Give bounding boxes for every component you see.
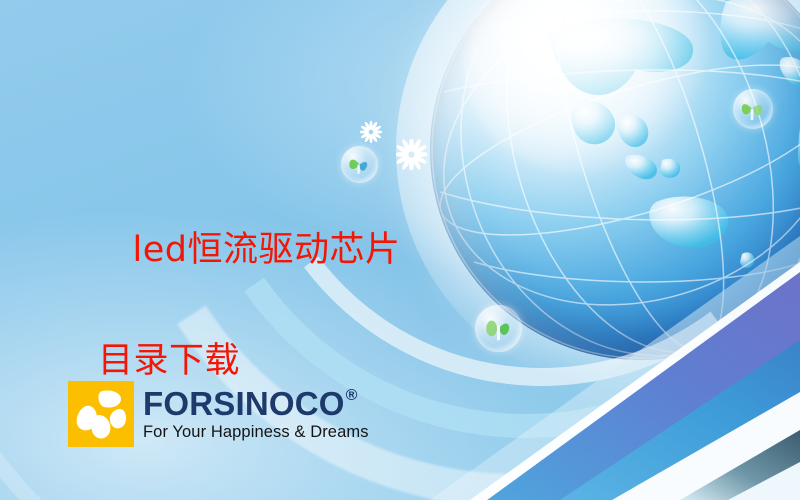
headline-line-1: led恒流驱动芯片 <box>133 230 401 270</box>
brand-tagline: For Your Happiness & Dreams <box>143 424 369 441</box>
brand-wordmark: FORSINOCO ® <box>143 387 369 420</box>
registered-trademark-symbol: ® <box>346 388 358 404</box>
brand-name: FORSINOCO <box>143 387 345 420</box>
forsinoco-petal-mark-icon <box>68 381 134 447</box>
promo-banner: led恒流驱动芯片 目录下载 FORSINOCO ® For Your Happ… <box>0 0 800 500</box>
brand-logo[interactable]: FORSINOCO ® For Your Happiness & Dreams <box>68 381 369 447</box>
petal-flower-icon <box>68 381 134 447</box>
logo-text-block: FORSINOCO ® For Your Happiness & Dreams <box>143 387 369 441</box>
headline: led恒流驱动芯片 目录下载 <box>86 168 401 500</box>
